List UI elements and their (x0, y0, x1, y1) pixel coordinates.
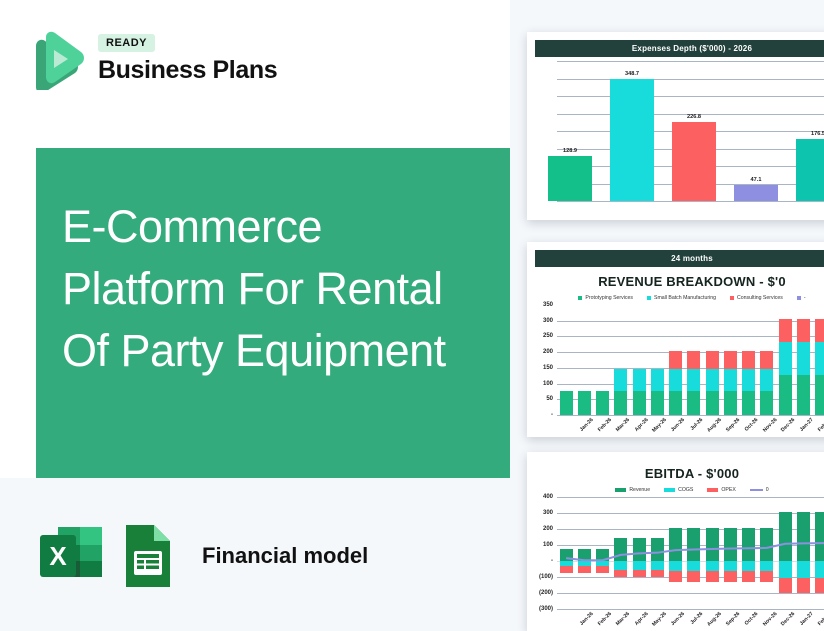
bar-value-label: 47.1 (751, 177, 762, 183)
legend-label: Small Batch Manufacturing (654, 295, 716, 301)
ebitda-stacked-bar-chart: 400300200100-(100)(200)(300) (533, 497, 824, 609)
x-tick: May-26 (655, 415, 673, 416)
bar-segment (724, 369, 737, 391)
legend-swatch-icon (615, 488, 626, 492)
x-tick-label: Jul-26 (690, 417, 705, 432)
x-tick-label: Aug-26 (706, 417, 723, 434)
bar-slot (575, 305, 593, 415)
x-tick-label: Oct-26 (744, 611, 760, 627)
x-tick-label: Aug-26 (706, 611, 723, 628)
y-tick-label: - (551, 412, 553, 418)
x-tick: Apr-26 (636, 415, 654, 416)
bar-segment (724, 351, 737, 370)
bar-segment (687, 391, 700, 415)
x-tick: Apr-26 (636, 609, 654, 610)
x-tick-label: Jul-26 (690, 611, 705, 626)
google-sheets-icon (120, 521, 176, 591)
bar-segment (815, 319, 824, 342)
legend-swatch-icon (707, 488, 718, 492)
x-tick: Jan-26 (581, 415, 599, 416)
bar-value-label: 348.7 (625, 71, 639, 77)
bar-slot (794, 305, 812, 415)
y-tick-label: 200 (543, 526, 553, 532)
bar-slot (776, 305, 794, 415)
bar-slot (630, 305, 648, 415)
bar-value-label: 128.9 (563, 148, 577, 154)
y-tick-label: 300 (543, 318, 553, 324)
bar-value-label: 176.5 (811, 131, 824, 137)
y-tick-label: 200 (543, 349, 553, 355)
bar-segment (651, 391, 664, 415)
bar (796, 139, 824, 201)
bar-segment (669, 369, 682, 391)
legend-item: OPEX (707, 487, 735, 493)
legend-label: COGS (678, 487, 693, 493)
bar-slot: 226.8 (663, 61, 725, 201)
x-tick-label: Apr-26 (634, 417, 650, 433)
x-tick-label: Sep-26 (725, 611, 741, 627)
legend-label: OPEX (721, 487, 735, 493)
x-tick: Sep-26 (728, 415, 746, 416)
x-tick: Dec-26 (783, 415, 801, 416)
bar-slot (685, 305, 703, 415)
bar-segment (779, 342, 792, 375)
bar (734, 185, 779, 201)
x-tick: Jul-26 (691, 415, 709, 416)
legend-label: Prototyping Services (585, 295, 633, 301)
x-tick: Sep-26 (728, 609, 746, 610)
legend-swatch-icon (730, 296, 734, 300)
x-tick: Jun-26 (673, 415, 691, 416)
chart-card-expenses: Expenses Depth ($'000) - 2026 128.9348.7… (527, 32, 824, 220)
bar-segment (578, 391, 591, 415)
x-tick-label: Dec-26 (780, 611, 796, 627)
x-tick: Jan-27 (802, 415, 820, 416)
x-tick-label: Nov-26 (762, 611, 778, 627)
x-tick-label: Jun-26 (670, 611, 686, 627)
x-tick: Jan-26 (581, 609, 599, 610)
bar-slot (648, 305, 666, 415)
legend-item: 0 (750, 487, 769, 493)
revenue-chart-legend: Prototyping ServicesSmall Batch Manufact… (527, 295, 824, 301)
bar-segment (779, 375, 792, 415)
x-tick-label: Mar-26 (615, 417, 631, 433)
bar-slot (594, 305, 612, 415)
financial-model-label: Financial model (202, 543, 368, 569)
bar-segment (560, 391, 573, 415)
excel-icon: X (38, 521, 104, 591)
legend-label: Revenue (629, 487, 650, 493)
ebitda-chart-legend: RevenueCOGSOPEX0 (527, 487, 824, 493)
bar-segment (614, 369, 627, 391)
bar-segment (687, 351, 700, 370)
x-tick-label: May-26 (651, 417, 668, 434)
bar (672, 122, 717, 201)
y-tick-label: 100 (543, 542, 553, 548)
bar-segment (687, 369, 700, 391)
chart-card-revenue: 24 months REVENUE BREAKDOWN - $'0 Protot… (527, 242, 824, 437)
x-tick-label: Feb-27 (817, 417, 824, 433)
x-tick: Nov-26 (765, 415, 783, 416)
poster-canvas: READY Business Plans E-Commerce Platform… (0, 0, 824, 631)
y-tick-label: - (551, 558, 553, 564)
legend-label: - (804, 295, 806, 301)
bar-segment (760, 351, 773, 370)
bar-segment (633, 391, 646, 415)
zero-line-series (557, 497, 824, 609)
x-tick: Feb-27 (820, 609, 824, 610)
bar (610, 79, 655, 201)
x-tick-label: May-26 (651, 611, 668, 628)
x-tick: May-26 (655, 609, 673, 610)
bar-slot (557, 305, 575, 415)
bar-slot (813, 305, 824, 415)
x-tick-label: Feb-26 (597, 417, 613, 433)
x-tick-label: Sep-26 (725, 417, 741, 433)
x-tick-label: Feb-27 (817, 611, 824, 627)
legend-item: Prototyping Services (578, 295, 633, 301)
x-tick: Dec-26 (783, 609, 801, 610)
x-tick: Mar-26 (618, 609, 636, 610)
bar-slot (758, 305, 776, 415)
x-tick: Oct-26 (746, 609, 764, 610)
y-tick-label: (200) (539, 590, 553, 596)
bar-slot (612, 305, 630, 415)
legend-item: - (797, 295, 806, 301)
bar-slot: 128.9 (539, 61, 601, 201)
bar-segment (614, 391, 627, 415)
svg-text:X: X (49, 541, 67, 571)
y-tick-label: 50 (546, 396, 553, 402)
legend-swatch-icon (664, 488, 675, 492)
bar-segment (596, 391, 609, 415)
x-tick: Jun-26 (673, 609, 691, 610)
x-tick-label: Jan-26 (579, 611, 595, 627)
play-triangle-logo-icon (28, 28, 84, 90)
brand-text-group: READY Business Plans (98, 34, 277, 85)
legend-item: Consulting Services (730, 295, 783, 301)
bar-slot (703, 305, 721, 415)
bar-segment (797, 319, 810, 342)
y-tick-label: 300 (543, 510, 553, 516)
brand-logo-group: READY Business Plans (28, 28, 277, 90)
bar-segment (797, 342, 810, 375)
bar-slot (740, 305, 758, 415)
bar-value-label: 226.8 (687, 114, 701, 120)
card-banner-revenue: 24 months (535, 250, 824, 267)
y-tick-label: 100 (543, 381, 553, 387)
file-format-row: X Financial model (38, 521, 368, 591)
x-tick: Feb-26 (599, 609, 617, 610)
bar-slot: 176.5 (787, 61, 824, 201)
bar-segment (779, 319, 792, 342)
ebitda-chart-title: EBITDA - $'000 (527, 466, 824, 481)
bar-group (557, 305, 824, 415)
bar (548, 156, 593, 201)
x-tick-label: Feb-26 (597, 611, 613, 627)
bar-segment (651, 369, 664, 391)
y-tick-label: 150 (543, 365, 553, 371)
bar-segment (760, 391, 773, 415)
y-tick-label: 250 (543, 333, 553, 339)
x-tick: Aug-26 (710, 609, 728, 610)
bar-segment (706, 369, 719, 391)
x-tick: Oct-26 (746, 415, 764, 416)
legend-item: COGS (664, 487, 693, 493)
ready-badge: READY (98, 34, 155, 52)
bar-slot: 348.7 (601, 61, 663, 201)
y-tick-label: 400 (543, 494, 553, 500)
card-banner-expenses: Expenses Depth ($'000) - 2026 (535, 40, 824, 57)
bar-segment (742, 369, 755, 391)
x-tick: Feb-26 (599, 415, 617, 416)
legend-swatch-icon (750, 489, 763, 491)
expenses-bar-chart: 128.9348.7226.847.1176.5 (533, 61, 824, 201)
bar-segment (706, 391, 719, 415)
bar-segment (815, 375, 824, 415)
x-tick: Feb-27 (820, 415, 824, 416)
x-tick-label: Jan-26 (579, 417, 595, 433)
x-tick-label: Nov-26 (762, 417, 778, 433)
bar-segment (742, 391, 755, 415)
bar-segment (742, 351, 755, 370)
bar-segment (815, 342, 824, 375)
x-tick: Jul-26 (691, 609, 709, 610)
legend-item: Small Batch Manufacturing (647, 295, 716, 301)
page-title: E-Commerce Platform For Rental Of Party … (62, 196, 492, 382)
bar-segment (633, 369, 646, 391)
x-tick: Jan-27 (802, 609, 820, 610)
legend-swatch-icon (797, 296, 801, 300)
x-tick-label: Apr-26 (634, 611, 650, 627)
legend-swatch-icon (578, 296, 582, 300)
y-axis-labels: 400300200100-(100)(200)(300) (533, 497, 555, 609)
bar-segment (706, 351, 719, 370)
y-tick-label: 350 (543, 302, 553, 308)
chart-card-ebitda: EBITDA - $'000 RevenueCOGSOPEX0 40030020… (527, 452, 824, 631)
x-tick: Mar-26 (618, 415, 636, 416)
legend-label: Consulting Services (737, 295, 783, 301)
bar-segment (724, 391, 737, 415)
x-tick-label: Mar-26 (615, 611, 631, 627)
bar-slot: 47.1 (725, 61, 787, 201)
y-tick-label: (100) (539, 574, 553, 580)
x-tick-label: Dec-26 (780, 417, 796, 433)
x-tick: Nov-26 (765, 609, 783, 610)
bar-segment (669, 351, 682, 370)
legend-label: 0 (766, 487, 769, 493)
y-axis-labels: 35030025020015010050- (533, 305, 555, 415)
revenue-chart-title: REVENUE BREAKDOWN - $'0 (527, 274, 824, 289)
legend-item: Revenue (615, 487, 650, 493)
bar-slot (667, 305, 685, 415)
revenue-x-axis: Jan-26Feb-26Mar-26Apr-26May-26Jun-26Jul-… (557, 415, 824, 437)
revenue-stacked-bar-chart: 35030025020015010050- (533, 305, 824, 415)
x-tick-label: Oct-26 (744, 417, 760, 433)
bar-slot (721, 305, 739, 415)
y-tick-label: (300) (539, 606, 553, 612)
x-tick-label: Jan-27 (799, 417, 815, 433)
bar-segment (797, 375, 810, 415)
brand-name: Business Plans (98, 56, 277, 85)
x-tick-label: Jun-26 (670, 417, 686, 433)
ebitda-x-axis: Jan-26Feb-26Mar-26Apr-26May-26Jun-26Jul-… (557, 609, 824, 631)
legend-swatch-icon (647, 296, 651, 300)
bar-segment (760, 369, 773, 391)
x-tick: Aug-26 (710, 415, 728, 416)
x-tick-label: Jan-27 (799, 611, 815, 627)
bar-segment (669, 391, 682, 415)
bar-group: 128.9348.7226.847.1176.5 (539, 61, 824, 201)
